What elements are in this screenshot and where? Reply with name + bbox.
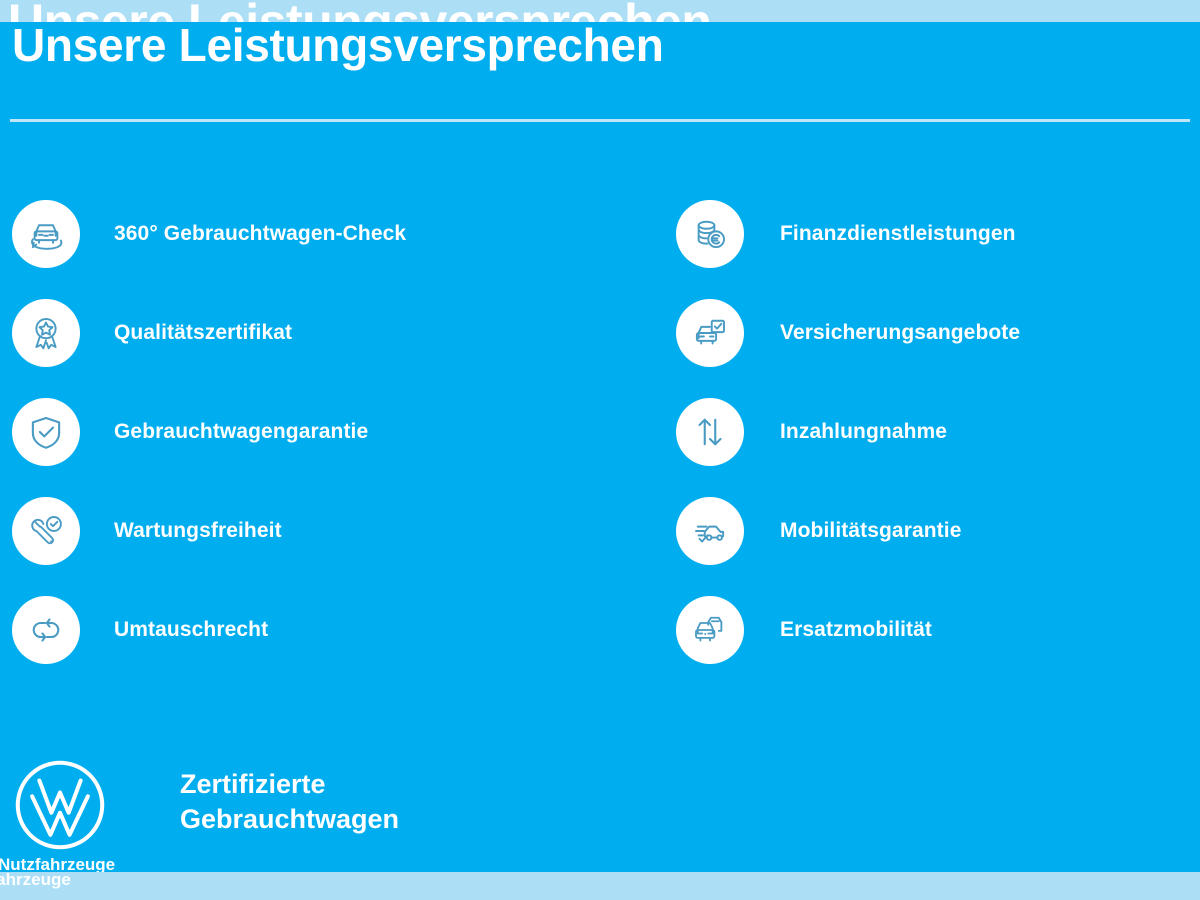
benefit-item[interactable]: Inzahlungnahme (676, 398, 1200, 466)
benefits-column-left: 360° Gebrauchtwagen-Check Qualitätszerti… (12, 200, 572, 664)
title-divider (10, 119, 1190, 122)
benefit-label: Inzahlungnahme (780, 420, 947, 444)
vw-logo-icon: Nutzfahrzeuge (12, 757, 108, 853)
ghost-title-text: Unsere Leistungsversprechen (8, 0, 711, 22)
benefit-label: Gebrauchtwagengarantie (114, 420, 368, 444)
benefit-label: Wartungsfreiheit (114, 519, 282, 543)
top-bleed-band: Unsere Leistungsversprechen (0, 0, 1200, 22)
two-cars-icon (676, 596, 744, 664)
benefit-item[interactable]: 360° Gebrauchtwagen-Check (12, 200, 572, 268)
benefit-label: Umtauschrecht (114, 618, 268, 642)
benefit-label: Finanzdienstleistungen (780, 222, 1016, 246)
benefit-item[interactable]: Gebrauchtwagengarantie (12, 398, 572, 466)
car-document-check-icon (676, 299, 744, 367)
benefit-item[interactable]: Versicherungsangebote (676, 299, 1200, 367)
benefit-item[interactable]: Wartungsfreiheit (12, 497, 572, 565)
page-title: Unsere Leistungsversprechen (12, 20, 664, 71)
benefit-label: Versicherungsangebote (780, 321, 1020, 345)
wrench-check-icon (12, 497, 80, 565)
brand-claim: Zertifizierte Gebrauchtwagen (180, 767, 399, 836)
benefits-column-right: Finanzdienstleistungen Versicherungsange… (676, 200, 1200, 664)
benefit-label: 360° Gebrauchtwagen-Check (114, 222, 406, 246)
slide-canvas: Unsere Leistungsversprechen Unsere Leist… (0, 0, 1200, 900)
coins-euro-icon (676, 200, 744, 268)
benefit-item[interactable]: Umtauschrecht (12, 596, 572, 664)
benefit-label: Qualitätszertifikat (114, 321, 292, 345)
brand-claim-line2: Gebrauchtwagen (180, 802, 399, 837)
shield-check-icon (12, 398, 80, 466)
brand-claim-line1: Zertifizierte (180, 767, 399, 802)
award-rosette-icon (12, 299, 80, 367)
up-down-arrows-icon (676, 398, 744, 466)
benefit-item[interactable]: Ersatzmobilität (676, 596, 1200, 664)
ghost-sub-text: zfahrzeuge (0, 872, 71, 892)
benefit-label: Mobilitätsgarantie (780, 519, 962, 543)
benefit-label: Ersatzmobilität (780, 618, 932, 642)
exchange-arrows-icon (12, 596, 80, 664)
car-360-check-icon (12, 200, 80, 268)
moving-car-check-icon (676, 497, 744, 565)
bottom-bleed-band: zfahrzeuge (0, 872, 1200, 900)
benefit-item[interactable]: Qualitätszertifikat (12, 299, 572, 367)
brand-lockup: Nutzfahrzeuge Zertifizierte Gebrauchtwag… (12, 757, 399, 853)
benefit-item[interactable]: Finanzdienstleistungen (676, 200, 1200, 268)
benefit-item[interactable]: Mobilitätsgarantie (676, 497, 1200, 565)
